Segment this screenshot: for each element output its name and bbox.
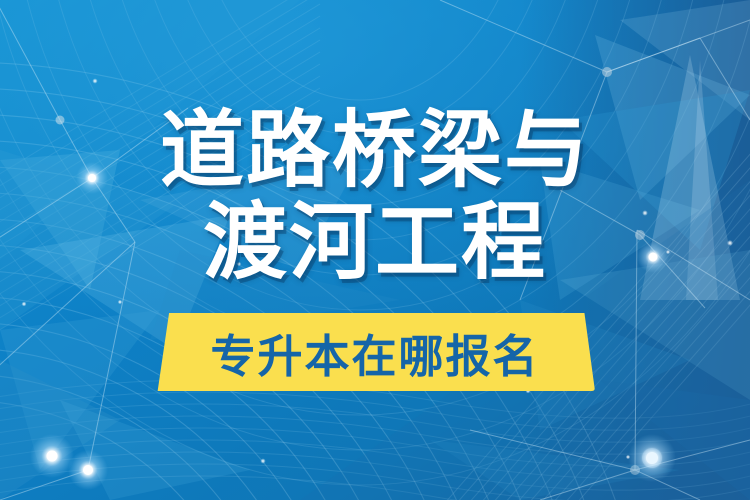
promo-banner: 道路桥梁与 渡河工程 专升本在哪报名: [0, 0, 750, 500]
ribbon-label: 专升本在哪报名: [155, 313, 595, 391]
background-node-network-layer: [0, 0, 750, 500]
subtitle-ribbon[interactable]: 专升本在哪报名: [0, 310, 750, 395]
